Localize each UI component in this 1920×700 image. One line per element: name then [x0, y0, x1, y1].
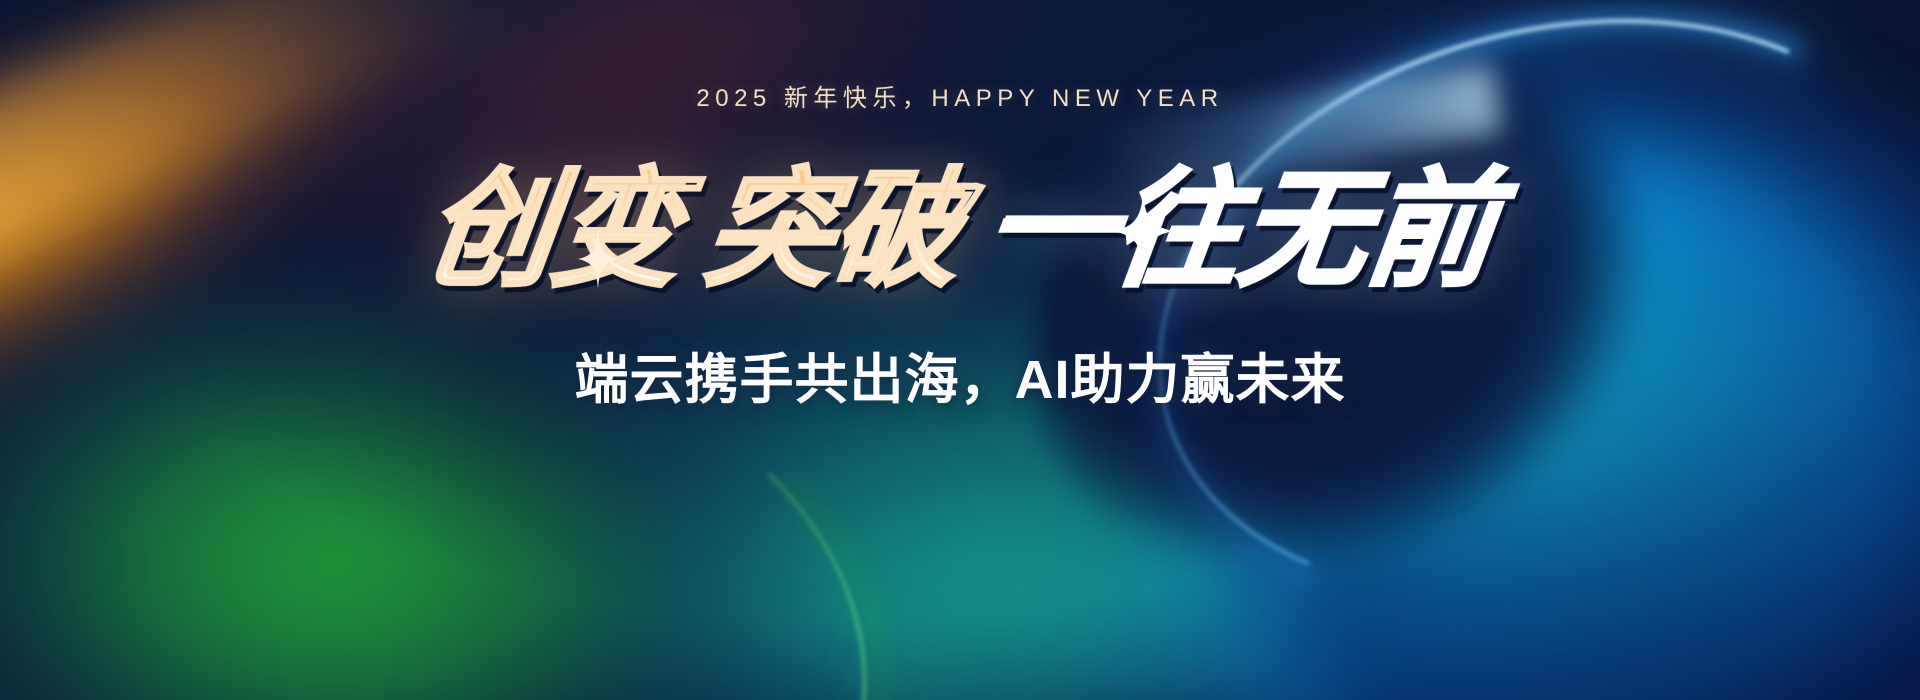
- headline-segment-gold-1: 创变: [418, 167, 688, 295]
- banner-content: 2025 新年快乐，HAPPY NEW YEAR 创变 突破 一往无前 端云携手…: [0, 0, 1920, 700]
- new-year-banner: 2025 新年快乐，HAPPY NEW YEAR 创变 突破 一往无前 端云携手…: [0, 0, 1920, 700]
- headline-segment-gold-2: 突破: [698, 167, 968, 295]
- tagline-text: 端云携手共出海，AI助力赢未来: [575, 335, 1346, 414]
- eyebrow-text: 2025 新年快乐，HAPPY NEW YEAR: [696, 78, 1223, 113]
- headline-segment-white: 一往无前: [978, 167, 1502, 295]
- headline: 创变 突破 一往无前: [418, 167, 1502, 295]
